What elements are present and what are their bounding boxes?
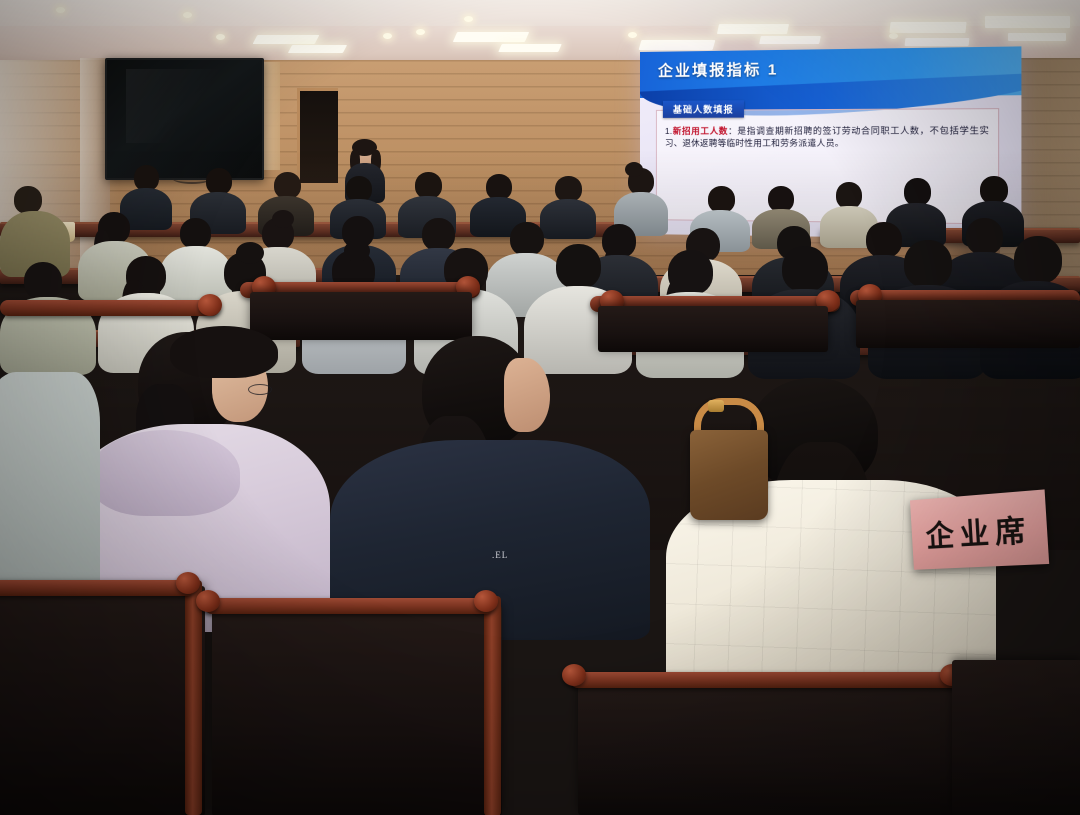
seat-finial [562,664,586,686]
foreground-attendee-left-edge [0,372,100,602]
ceiling-downlight [628,32,637,38]
attendee-head [206,168,232,195]
seat-post [185,580,202,815]
seat-finial [474,590,498,612]
ceiling-panel-light [1008,33,1066,41]
table-placard-enterprise-seat: 企业席 [910,489,1049,569]
attendee-head [782,246,828,292]
ceiling-downlight [216,34,225,40]
ceiling-downlight [889,33,898,39]
attendee-torso [0,372,100,602]
attendee-head [274,172,301,199]
attendee [614,168,668,232]
auditorium-seat-foreground [0,586,205,815]
placard-label: 企业席 [924,505,1032,556]
ceiling-panel-light [985,16,1070,28]
seat-post [484,596,501,815]
ceiling-downlight [56,7,65,13]
attendee-head [24,262,62,300]
auditorium-seat [856,300,1080,348]
handbag-clasp [708,400,724,412]
auditorium-seat-foreground [212,606,502,815]
ceiling-downlight [416,29,425,35]
attendee [0,186,70,274]
seat-back-rail [570,672,962,688]
attendee-hair-bun [344,240,370,262]
eyeglasses [248,384,272,395]
seat-finial [196,590,220,612]
slide-keyword: 新招用工人数 [672,126,728,136]
ceiling-downlight [464,16,473,22]
attendee-hair-bun [625,162,643,177]
ceiling-downlight [183,12,192,18]
attendee-head [180,218,211,249]
auditorium-seat-foreground [952,660,1080,815]
ceiling-panel-light [288,45,347,53]
auditorium-seat-foreground [578,680,958,815]
slide-title: 企业填报指标 1 [658,58,779,81]
attendee-head [904,178,931,206]
ceiling-panel-light [759,36,821,44]
attendee-head [708,186,735,213]
attendee-hair-bun [272,210,294,228]
jacket-logo: .EL [492,550,508,560]
tv-screen-glare [126,69,231,142]
meeting-room-photo: 企业填报指标 1 基础人数填报 1.新招用工人数：是指调查期新招聘的签订劳动合同… [0,0,1080,815]
attendee-head [422,218,455,251]
handbag [690,430,768,520]
seat-back-rail [204,598,494,614]
seat-back-rail [0,580,195,596]
ceiling-panel-light [498,44,562,52]
attendee-head [980,176,1008,204]
seat-finial [198,294,222,316]
ceiling-downlight [383,33,392,39]
ceiling-panel-light [889,22,966,33]
attendee-head [904,240,952,288]
attendee-head [1014,236,1062,284]
attendee-head [415,172,442,199]
attendee-hair-bun [236,242,264,264]
ceiling-panel-light [639,40,716,50]
ceiling-panel-light [253,35,320,44]
slide-paragraph: 1.新招用工人数：是指调查期新招聘的签订劳动合同职工人数，不包括学生实习、退休返… [665,124,989,150]
ceiling-panel-light [453,32,529,42]
ceiling-panel-light [717,24,789,34]
attendee-face [504,358,550,432]
slide-item-number: 1. [665,126,673,136]
attendee-hair-top [170,326,278,378]
attendee-head [14,186,42,214]
seat-back-rail [0,300,220,316]
seat-finial [176,572,200,594]
hoodie-hood [90,430,240,516]
slide-section-header: 基础人数填报 [663,100,744,118]
attendee-head [836,182,862,209]
ceiling-panel-light [905,38,970,46]
attendee-head [556,244,601,289]
